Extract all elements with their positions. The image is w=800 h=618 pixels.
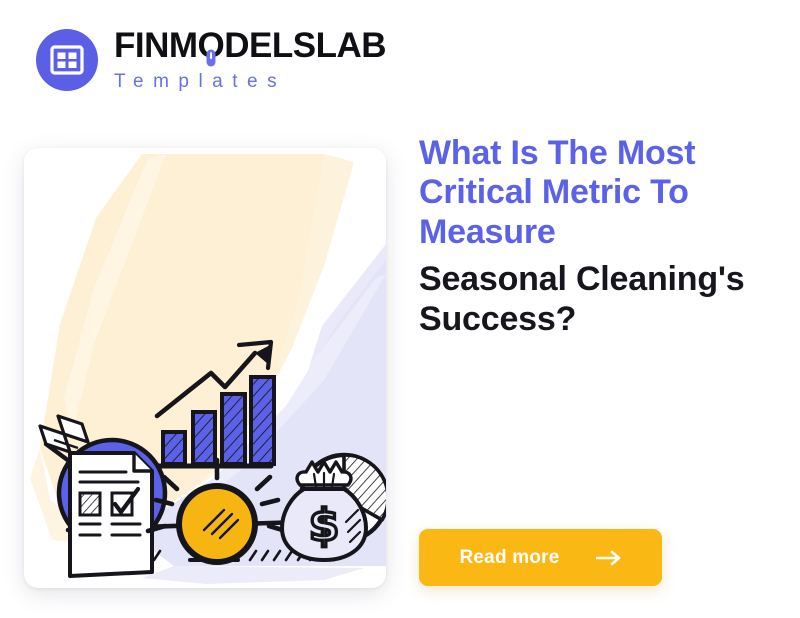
grid-window-icon [50, 45, 84, 75]
page-title: What Is The Most Critical Metric To Meas… [419, 134, 759, 252]
brand-name-part1: FINM [114, 26, 198, 65]
illustration-card: $ [24, 148, 386, 588]
brand-name-o-letter: O [198, 26, 225, 65]
svg-text:$: $ [309, 500, 340, 551]
brand-tagline: Templates [114, 72, 386, 91]
brand-header[interactable]: FINMODELSLAB Templates [36, 28, 386, 91]
brand-wordmark: FINMODELSLAB Templates [114, 28, 386, 91]
document-with-checkmark [70, 453, 152, 576]
brand-name: FINMODELSLAB [114, 28, 386, 63]
page-subtitle: Seasonal Cleaning's Success? [419, 260, 759, 339]
copy-block: What Is The Most Critical Metric To Meas… [419, 134, 759, 339]
arrow-right-icon [596, 550, 622, 566]
read-more-label: Read more [459, 547, 559, 569]
read-more-button[interactable]: Read more [419, 529, 662, 586]
brand-name-o: O [198, 28, 225, 63]
poster-canvas: FINMODELSLAB Templates [0, 0, 800, 618]
brand-logo-mark [36, 29, 98, 91]
brand-name-part2: DELSLAB [224, 26, 386, 65]
